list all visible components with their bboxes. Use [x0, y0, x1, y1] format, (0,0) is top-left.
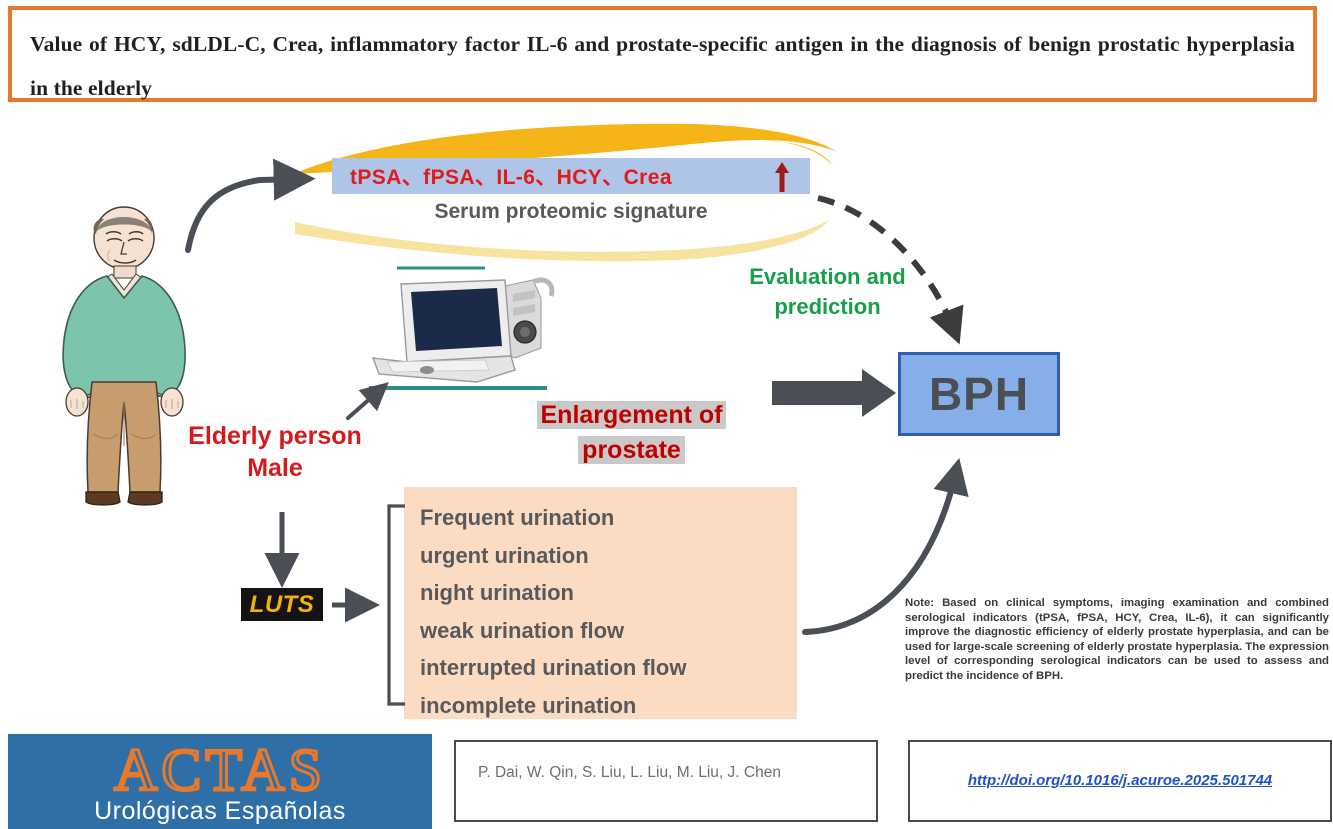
journal-logo: ACTAS Urológicas Españolas [8, 734, 432, 829]
ultrasound-machine-illustration [365, 262, 565, 394]
evaluation-prediction-label: Evaluation and prediction [720, 262, 935, 322]
up-arrow-icon [774, 162, 790, 192]
luts-badge: LUTS [241, 588, 323, 621]
serum-signature-label: Serum proteomic signature [332, 200, 810, 224]
logo-actas-text: ACTAS [8, 740, 432, 800]
elderly-person-label: Elderly person Male [160, 420, 390, 484]
prostate-label-line2: prostate [578, 436, 685, 464]
doi-link[interactable]: http://doi.org/10.1016/j.acuroe.2025.501… [910, 772, 1330, 789]
authors-list: P. Dai, W. Qin, S. Liu, L. Liu, M. Liu, … [478, 764, 866, 782]
evaluation-line2: prediction [720, 292, 935, 322]
arrow-prostate-to-bph [772, 369, 896, 417]
list-item: Frequent urination [420, 499, 686, 537]
list-item: interrupted urination flow [420, 649, 686, 687]
luts-label: LUTS [241, 588, 323, 621]
title-banner: Value of HCY, sdLDL-C, Crea, inflammator… [8, 6, 1317, 102]
prostate-enlargement-label: Enlargement of prostate [514, 398, 749, 468]
biomarker-list: tPSA、fPSA、IL-6、HCY、Crea [350, 161, 672, 191]
symptom-panel: Frequent urination urgent urination nigh… [404, 487, 797, 719]
logo-subtitle-text: Urológicas Españolas [8, 798, 432, 824]
elderly-person-line1: Elderly person [160, 420, 390, 452]
list-item: night urination [420, 574, 686, 612]
page-title: Value of HCY, sdLDL-C, Crea, inflammator… [30, 22, 1295, 110]
elderly-person-line2: Male [160, 452, 390, 484]
list-item: urgent urination [420, 537, 686, 575]
list-item: incomplete urination [420, 687, 686, 725]
evaluation-line1: Evaluation and [720, 262, 935, 292]
bracket-icon [381, 504, 407, 706]
symptom-list: Frequent urination urgent urination nigh… [420, 499, 686, 724]
list-item: weak urination flow [420, 612, 686, 650]
arrow-person-to-banner [188, 179, 300, 250]
prostate-label-line1: Enlargement of [537, 401, 727, 429]
biomarker-banner: tPSA、fPSA、IL-6、HCY、Crea [332, 158, 810, 194]
note-text: Note: Based on clinical symptoms, imagin… [905, 596, 1329, 684]
bph-outcome-box: BPH [898, 352, 1060, 436]
bph-label: BPH [901, 355, 1057, 433]
authors-box: P. Dai, W. Qin, S. Liu, L. Liu, M. Liu, … [454, 740, 878, 822]
doi-box: http://doi.org/10.1016/j.acuroe.2025.501… [908, 740, 1332, 822]
